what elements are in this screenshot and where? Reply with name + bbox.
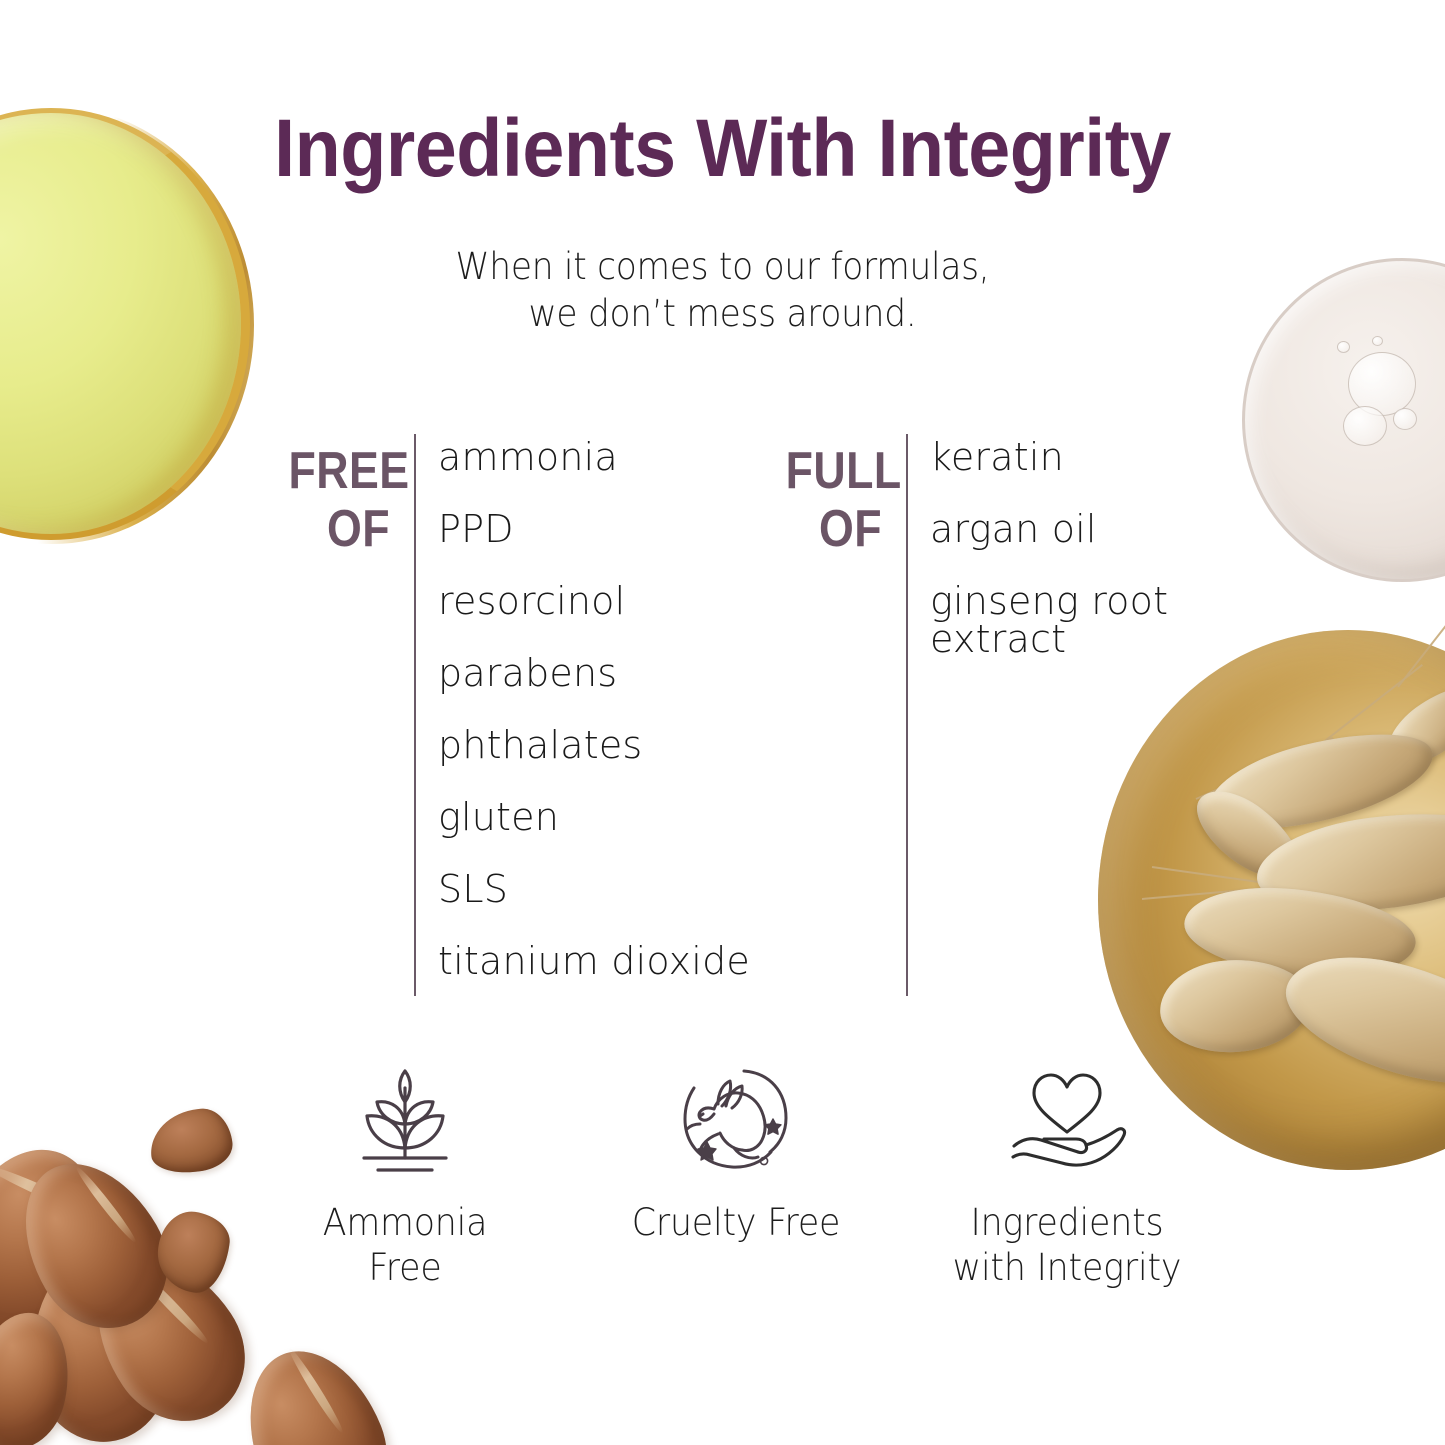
argan-nut-seam: [79, 1246, 117, 1349]
argan-nut: [66, 1229, 272, 1445]
root-tendril: [1142, 880, 1351, 900]
full-of-label: FULL OF: [786, 434, 882, 558]
list-item: resorcinol: [438, 582, 750, 620]
free-of-label: FREE OF: [289, 434, 390, 558]
gel-bubble-large: [1348, 352, 1416, 416]
argan-shell-fragment: [147, 1106, 235, 1176]
free-of-column: FREE OF ammonia PPD resorcinol parabens …: [272, 434, 750, 996]
argan-nut: [0, 1138, 193, 1353]
badge-row: Ammonia Free: [262, 1060, 1210, 1290]
argan-nut: [224, 1330, 409, 1445]
ginseng-root: [1180, 878, 1420, 988]
ginseng-root: [1157, 955, 1313, 1057]
ginseng-root: [1200, 715, 1442, 846]
list-item: argan oil: [930, 510, 1168, 548]
gel-bubble-medium: [1343, 406, 1387, 446]
ginseng-root: [1272, 934, 1445, 1108]
ginseng-root: [1375, 673, 1445, 780]
gel-bubble-tiny-a: [1337, 341, 1350, 353]
ginseng-root: [1183, 775, 1313, 895]
root-tendril: [1196, 737, 1334, 800]
list-item: SLS: [438, 870, 750, 908]
badge-label: Ammonia Free: [271, 1200, 540, 1290]
badge-cruelty-free: Cruelty Free: [593, 1060, 879, 1290]
ginseng-root: [1251, 800, 1445, 923]
root-tendril: [1364, 998, 1445, 1064]
root-tendril: [1152, 866, 1333, 893]
list-item: titanium dioxide: [438, 942, 750, 980]
badge-label: Cruelty Free: [602, 1200, 871, 1245]
argan-nut: [23, 1251, 177, 1445]
list-item: keratin: [930, 438, 1168, 476]
badge-ingredients-integrity: Ingredients with Integrity: [924, 1060, 1210, 1290]
page-subtitle: When it comes to our formulas, we don’t …: [51, 243, 1395, 338]
full-of-divider: [906, 434, 908, 996]
full-of-list: keratin argan oil ginseng root extract: [930, 434, 1168, 692]
page-title: Ingredients With Integrity: [58, 108, 1387, 190]
badge-ammonia-free: Ammonia Free: [262, 1060, 548, 1290]
list-item: PPD: [438, 510, 750, 548]
gel-bubble-small: [1393, 408, 1417, 430]
argan-nut-seam: [286, 1346, 347, 1436]
plant-icon: [262, 1060, 548, 1178]
root-tendril: [1258, 940, 1445, 989]
list-item: ammonia: [438, 438, 750, 476]
list-item: parabens: [438, 654, 750, 692]
root-tendril: [1397, 592, 1445, 688]
argan-nut-seam: [0, 1162, 101, 1222]
badge-label: Ingredients with Integrity: [933, 1200, 1202, 1290]
free-of-divider: [414, 434, 416, 996]
argan-shell-fragment: [153, 1208, 233, 1297]
argan-nut: [0, 1131, 128, 1361]
infographic-canvas: Ingredients With Integrity When it comes…: [0, 0, 1445, 1445]
argan-nut: [0, 1304, 81, 1445]
free-of-list: ammonia PPD resorcinol parabens phthalat…: [438, 434, 750, 980]
list-item: ginseng root extract: [930, 582, 1168, 658]
full-of-column: FULL OF keratin argan oil ginseng root e…: [770, 434, 1168, 996]
argan-nut-seam: [73, 1164, 139, 1245]
list-item: gluten: [438, 798, 750, 836]
bunny-icon: [593, 1060, 879, 1178]
list-item: phthalates: [438, 726, 750, 764]
argan-nut-seam: [131, 1263, 212, 1346]
hand-heart-icon: [924, 1060, 1210, 1178]
root-tendril: [1311, 664, 1423, 752]
